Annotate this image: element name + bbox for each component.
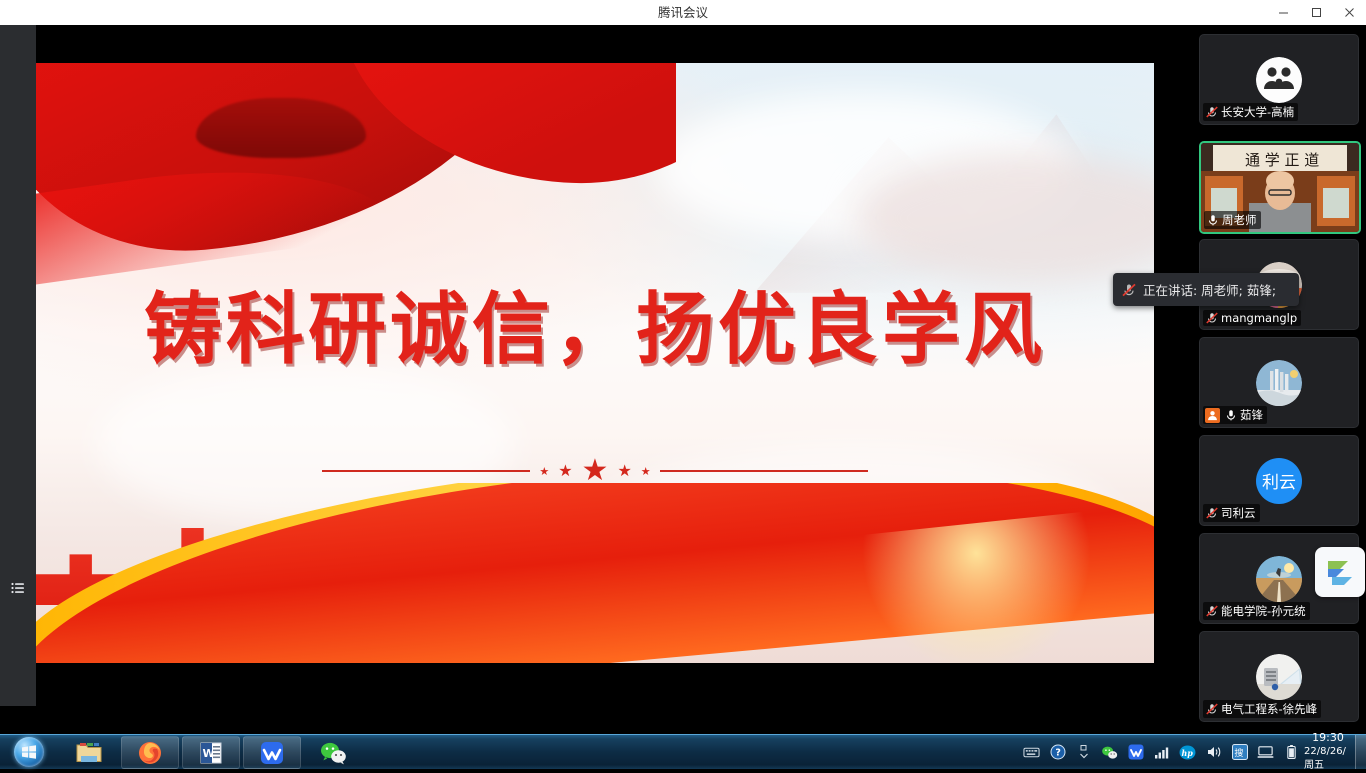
- close-button[interactable]: [1333, 0, 1366, 25]
- wps-chevron-icon: [1322, 554, 1358, 590]
- keyboard-icon[interactable]: [1023, 744, 1040, 761]
- avatar-initials: 利云: [1262, 468, 1296, 493]
- cartoon-people-avatar-icon: [1256, 57, 1302, 103]
- participant-tile[interactable]: 利云 司利云: [1199, 435, 1359, 526]
- window-controls: [1267, 0, 1366, 25]
- microphone-muted-icon: [1205, 105, 1219, 119]
- avatar: [1256, 360, 1302, 406]
- speaking-toast: 正在讲话: 周老师; 茹锋;: [1113, 273, 1299, 306]
- taskbar-clock[interactable]: 19:30 22/8/26/周五: [1304, 735, 1352, 769]
- desk-photo-avatar-icon: [1256, 654, 1302, 700]
- battery-icon[interactable]: [1283, 744, 1300, 761]
- speaking-toast-text: 正在讲话: 周老师; 茹锋;: [1143, 280, 1276, 299]
- avatar: [1256, 57, 1302, 103]
- start-orb-icon: [14, 737, 44, 767]
- word-icon: W: [198, 740, 224, 766]
- taskbar-item-tencent-meeting[interactable]: [243, 736, 301, 769]
- shared-slide: 铸科研诚信，扬优良学风 ★ ★ ★ ★ ★ 主讲人：周学政教授: [36, 25, 1154, 706]
- participant-name-chip: 长安大学-高楠: [1203, 103, 1298, 121]
- show-desktop-button[interactable]: [1355, 735, 1366, 769]
- participant-name: 长安大学-高楠: [1221, 104, 1294, 120]
- participant-name: 电气工程系-徐先峰: [1221, 701, 1317, 717]
- svg-text:通 学 正 道: 通 学 正 道: [1245, 151, 1319, 169]
- file-explorer-icon: [75, 740, 103, 766]
- hp-icon[interactable]: hp: [1179, 744, 1196, 761]
- participant-tile[interactable]: 电气工程系-徐先峰: [1199, 631, 1359, 722]
- maximize-button[interactable]: [1300, 0, 1333, 25]
- taskbar-item-file-explorer[interactable]: [60, 736, 118, 769]
- tencent-meeting-icon: [259, 740, 285, 766]
- avatar: [1256, 654, 1302, 700]
- microphone-muted-icon: [1205, 311, 1219, 325]
- star-icon: ★: [539, 466, 549, 477]
- participant-name-chip: 周老师: [1204, 211, 1261, 229]
- participant-name-chip: 司利云: [1203, 504, 1260, 522]
- divider-line-right: [660, 470, 868, 472]
- microphone-icon: [1206, 213, 1220, 227]
- microphone-icon: [1224, 408, 1238, 422]
- skyline-ribbon-decoration: [36, 483, 1154, 663]
- avatar: [1256, 556, 1302, 602]
- slide-title: 铸科研诚信，扬优良学风: [36, 267, 1154, 379]
- clock-date: 22/8/26/周五: [1304, 745, 1352, 773]
- participant-tile[interactable]: 茹锋: [1199, 337, 1359, 428]
- wechat-tray-icon[interactable]: [1101, 744, 1118, 761]
- svg-text:W: W: [203, 747, 215, 760]
- minimize-icon: [1278, 7, 1289, 18]
- microphone-muted-icon: [1205, 702, 1219, 716]
- help-icon[interactable]: ?: [1049, 744, 1066, 761]
- stage-left-rail: [0, 25, 36, 706]
- red-flag-decoration: [36, 63, 676, 293]
- avatar: 利云: [1256, 458, 1302, 504]
- participant-name: 茹锋: [1240, 407, 1263, 423]
- network-signal-icon[interactable]: [1153, 744, 1170, 761]
- monument-photo-avatar-icon: [1256, 360, 1302, 406]
- clock-time: 19:30: [1312, 731, 1344, 745]
- system-tray: ?: [1023, 735, 1300, 769]
- taskbar-item-wechat[interactable]: [304, 736, 362, 769]
- taskbar-item-firefox[interactable]: [121, 736, 179, 769]
- volume-icon[interactable]: [1205, 744, 1222, 761]
- wechat-icon: [319, 740, 347, 766]
- tencent-meeting-tray-icon[interactable]: [1127, 744, 1144, 761]
- participant-tile[interactable]: 通 学 正 道 周老师: [1199, 141, 1361, 234]
- title-bar: 腾讯会议: [0, 0, 1366, 26]
- windows-logo-icon: [21, 744, 37, 760]
- participant-tile[interactable]: 长安大学-高楠: [1199, 34, 1359, 125]
- taskbar-items: W: [60, 736, 362, 769]
- star-icon: ★: [582, 456, 609, 486]
- participant-name: mangmanglp: [1221, 311, 1297, 325]
- participant-name: 周老师: [1222, 212, 1257, 228]
- participant-name-chip: 能电学院-孙元统: [1203, 602, 1310, 620]
- participant-name: 司利云: [1221, 505, 1256, 521]
- microphone-muted-icon: [1121, 282, 1137, 298]
- maximize-icon: [1311, 7, 1322, 18]
- view-layout-button[interactable]: [6, 573, 30, 603]
- display-icon[interactable]: [1257, 744, 1274, 761]
- microphone-muted-icon: [1205, 604, 1219, 618]
- start-button[interactable]: [3, 735, 55, 769]
- participant-name-chip: mangmanglp: [1203, 310, 1301, 326]
- slide-canvas: 铸科研诚信，扬优良学风 ★ ★ ★ ★ ★ 主讲人：周学政教授: [36, 63, 1154, 663]
- star-divider: ★ ★ ★ ★ ★: [36, 456, 1154, 486]
- svg-text:hp: hp: [1182, 748, 1194, 757]
- close-icon: [1344, 7, 1355, 18]
- input-method-icon[interactable]: 搜: [1231, 744, 1248, 761]
- ribbon-glow: [859, 511, 1103, 663]
- wps-floating-icon[interactable]: [1315, 547, 1365, 597]
- host-badge: [1205, 408, 1220, 423]
- star-icon: ★: [617, 463, 631, 479]
- host-person-icon: [1207, 410, 1218, 421]
- star-icon: ★: [641, 466, 651, 477]
- star-icon: ★: [558, 463, 572, 479]
- participant-filmstrip[interactable]: 长安大学-高楠 通 学 正 道: [1190, 25, 1366, 734]
- svg-text:搜: 搜: [1234, 747, 1243, 759]
- list-view-icon: [10, 580, 26, 596]
- participant-name-chip: 电气工程系-徐先峰: [1203, 700, 1321, 718]
- taskbar-item-word[interactable]: W: [182, 736, 240, 769]
- microphone-muted-icon: [1205, 506, 1219, 520]
- show-hidden-icons-icon[interactable]: [1075, 744, 1092, 761]
- shared-screen-stage: 铸科研诚信，扬优良学风 ★ ★ ★ ★ ★ 主讲人：周学政教授: [0, 25, 1190, 706]
- window-title: 腾讯会议: [0, 0, 1366, 25]
- divider-line-left: [322, 470, 530, 472]
- firefox-icon: [137, 740, 163, 766]
- windows-taskbar: W: [0, 734, 1366, 769]
- participant-name-chip: 茹锋: [1203, 406, 1267, 424]
- road-photo-avatar-icon: [1256, 556, 1302, 602]
- minimize-button[interactable]: [1267, 0, 1300, 25]
- participant-name: 能电学院-孙元统: [1221, 603, 1306, 619]
- tencent-meeting-window: 腾讯会议: [0, 0, 1366, 768]
- svg-text:?: ?: [1055, 748, 1061, 759]
